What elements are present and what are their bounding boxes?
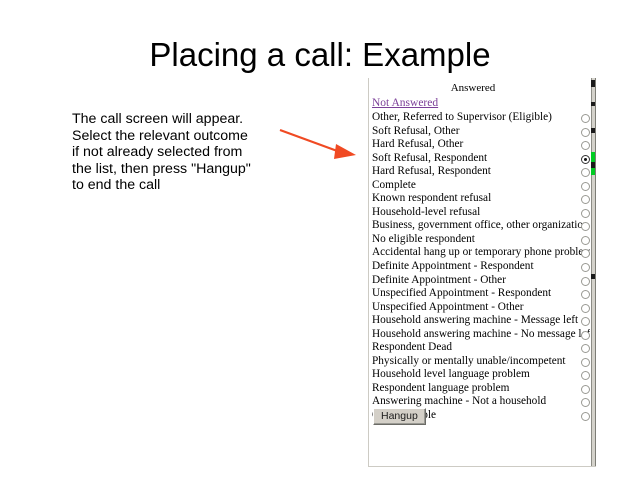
outcome-label: Soft Refusal, Other <box>372 125 460 139</box>
scrollbar-mark <box>591 152 595 162</box>
outcome-label: Unspecified Appointment - Other <box>372 301 524 315</box>
outcome-radio[interactable] <box>581 344 590 353</box>
outcome-radio[interactable] <box>581 128 590 137</box>
outcome-radio[interactable] <box>581 277 590 286</box>
outcome-radio[interactable] <box>581 371 590 380</box>
pointer-arrow-icon <box>278 122 362 166</box>
outcome-row[interactable]: Physically or mentally unable/incompeten… <box>369 355 591 369</box>
outcome-label: No eligible respondent <box>372 233 475 247</box>
outcome-row[interactable]: Hard Refusal, Respondent <box>369 165 591 179</box>
outcome-radio[interactable] <box>581 331 590 340</box>
outcome-label: Unspecified Appointment - Respondent <box>372 287 551 301</box>
outcome-row[interactable]: Unspecified Appointment - Respondent <box>369 287 591 301</box>
page-title: Placing a call: Example <box>0 36 640 74</box>
outcome-label: Physically or mentally unable/incompeten… <box>372 355 566 369</box>
slide-canvas: Placing a call: Example The call screen … <box>0 0 640 480</box>
instruction-caption: The call screen will appear. Select the … <box>72 111 282 194</box>
outcome-label: Household level language problem <box>372 368 530 382</box>
outcome-label: Hard Refusal, Respondent <box>372 165 491 179</box>
outcome-row[interactable]: Soft Refusal, Respondent <box>369 152 591 166</box>
outcome-row[interactable]: Household answering machine - No message… <box>369 328 591 342</box>
caption-line: the list, then press "Hangup" <box>72 161 282 178</box>
outcome-label: Other, Referred to Supervisor (Eligible) <box>372 111 552 125</box>
outcome-row[interactable]: Definite Appointment - Other <box>369 274 591 288</box>
outcome-label: Accidental hang up or temporary phone pr… <box>372 246 592 260</box>
caption-line: if not already selected from <box>72 144 282 161</box>
outcome-radio[interactable] <box>581 358 590 367</box>
outcome-label: Business, government office, other organ… <box>372 219 589 233</box>
outcome-label: Respondent Dead <box>372 341 452 355</box>
outcome-row[interactable]: Household-level refusal <box>369 206 591 220</box>
outcome-row[interactable]: Accidental hang up or temporary phone pr… <box>369 246 591 260</box>
outcome-radio[interactable] <box>581 114 590 123</box>
outcome-row[interactable]: No eligible respondent <box>369 233 591 247</box>
outcome-row[interactable]: Respondent Dead <box>369 341 591 355</box>
outcome-radio[interactable] <box>581 263 590 272</box>
caption-line: to end the call <box>72 177 282 194</box>
answered-column-header: Answered <box>369 82 577 94</box>
scrollbar-mark <box>591 102 595 106</box>
outcome-row[interactable]: Complete <box>369 179 591 193</box>
not-answered-link[interactable]: Not Answered <box>372 97 438 109</box>
outcome-radio[interactable] <box>581 141 590 150</box>
outcome-row[interactable]: Known respondent refusal <box>369 192 591 206</box>
outcome-row[interactable]: Soft Refusal, Other <box>369 125 591 139</box>
caption-line: Select the relevant outcome <box>72 128 282 145</box>
outcome-radio[interactable] <box>581 398 590 407</box>
caption-line: The call screen will appear. <box>72 111 282 128</box>
outcome-radio[interactable] <box>581 317 590 326</box>
outcome-label: Household-level refusal <box>372 206 480 220</box>
outcome-row[interactable]: Answering machine - Not a household <box>369 395 591 409</box>
outcome-row[interactable]: Household answering machine - Message le… <box>369 314 591 328</box>
outcome-radio[interactable] <box>581 290 590 299</box>
outcome-radio[interactable] <box>581 236 590 245</box>
outcome-radio[interactable] <box>581 195 590 204</box>
scrollbar-mark <box>591 168 595 175</box>
outcome-radio[interactable] <box>581 304 590 313</box>
outcome-row[interactable]: Unspecified Appointment - Other <box>369 301 591 315</box>
outcome-radio[interactable] <box>581 182 590 191</box>
outcome-label: Definite Appointment - Respondent <box>372 260 534 274</box>
outcome-label: Soft Refusal, Respondent <box>372 152 487 166</box>
hangup-button[interactable]: Hangup <box>373 408 426 425</box>
panel-scrollbar[interactable] <box>590 78 596 467</box>
scrollbar-mark <box>591 128 595 133</box>
outcome-radio[interactable] <box>581 209 590 218</box>
outcome-label: Household answering machine - Message le… <box>372 314 578 328</box>
outcome-radio[interactable] <box>581 412 590 421</box>
outcome-radio[interactable] <box>581 385 590 394</box>
outcome-label: Respondent language problem <box>372 382 509 396</box>
outcome-label: Known respondent refusal <box>372 192 491 206</box>
outcome-label: Complete <box>372 179 416 193</box>
outcome-label: Definite Appointment - Other <box>372 274 506 288</box>
outcome-radio[interactable] <box>581 168 590 177</box>
outcome-label: Answering machine - Not a household <box>372 395 546 409</box>
outcome-row[interactable]: Hard Refusal, Other <box>369 138 591 152</box>
scrollbar-mark <box>591 274 595 279</box>
outcome-row[interactable]: Business, government office, other organ… <box>369 219 591 233</box>
call-screen-panel: Answered Not Answered Other, Referred to… <box>368 78 596 467</box>
scrollbar-mark <box>591 80 595 87</box>
hangup-button-area: Hangup <box>369 408 569 428</box>
outcome-label: Hard Refusal, Other <box>372 138 463 152</box>
outcome-row[interactable]: Other, Referred to Supervisor (Eligible) <box>369 111 591 125</box>
outcome-radio[interactable] <box>581 155 590 164</box>
outcome-row[interactable]: Definite Appointment - Respondent <box>369 260 591 274</box>
outcome-row[interactable]: Respondent language problem <box>369 382 591 396</box>
outcome-list: Other, Referred to Supervisor (Eligible)… <box>369 111 591 423</box>
call-screen-content: Answered Not Answered Other, Referred to… <box>369 78 590 466</box>
outcome-row[interactable]: Household level language problem <box>369 368 591 382</box>
outcome-label: Household answering machine - No message… <box>372 328 593 342</box>
